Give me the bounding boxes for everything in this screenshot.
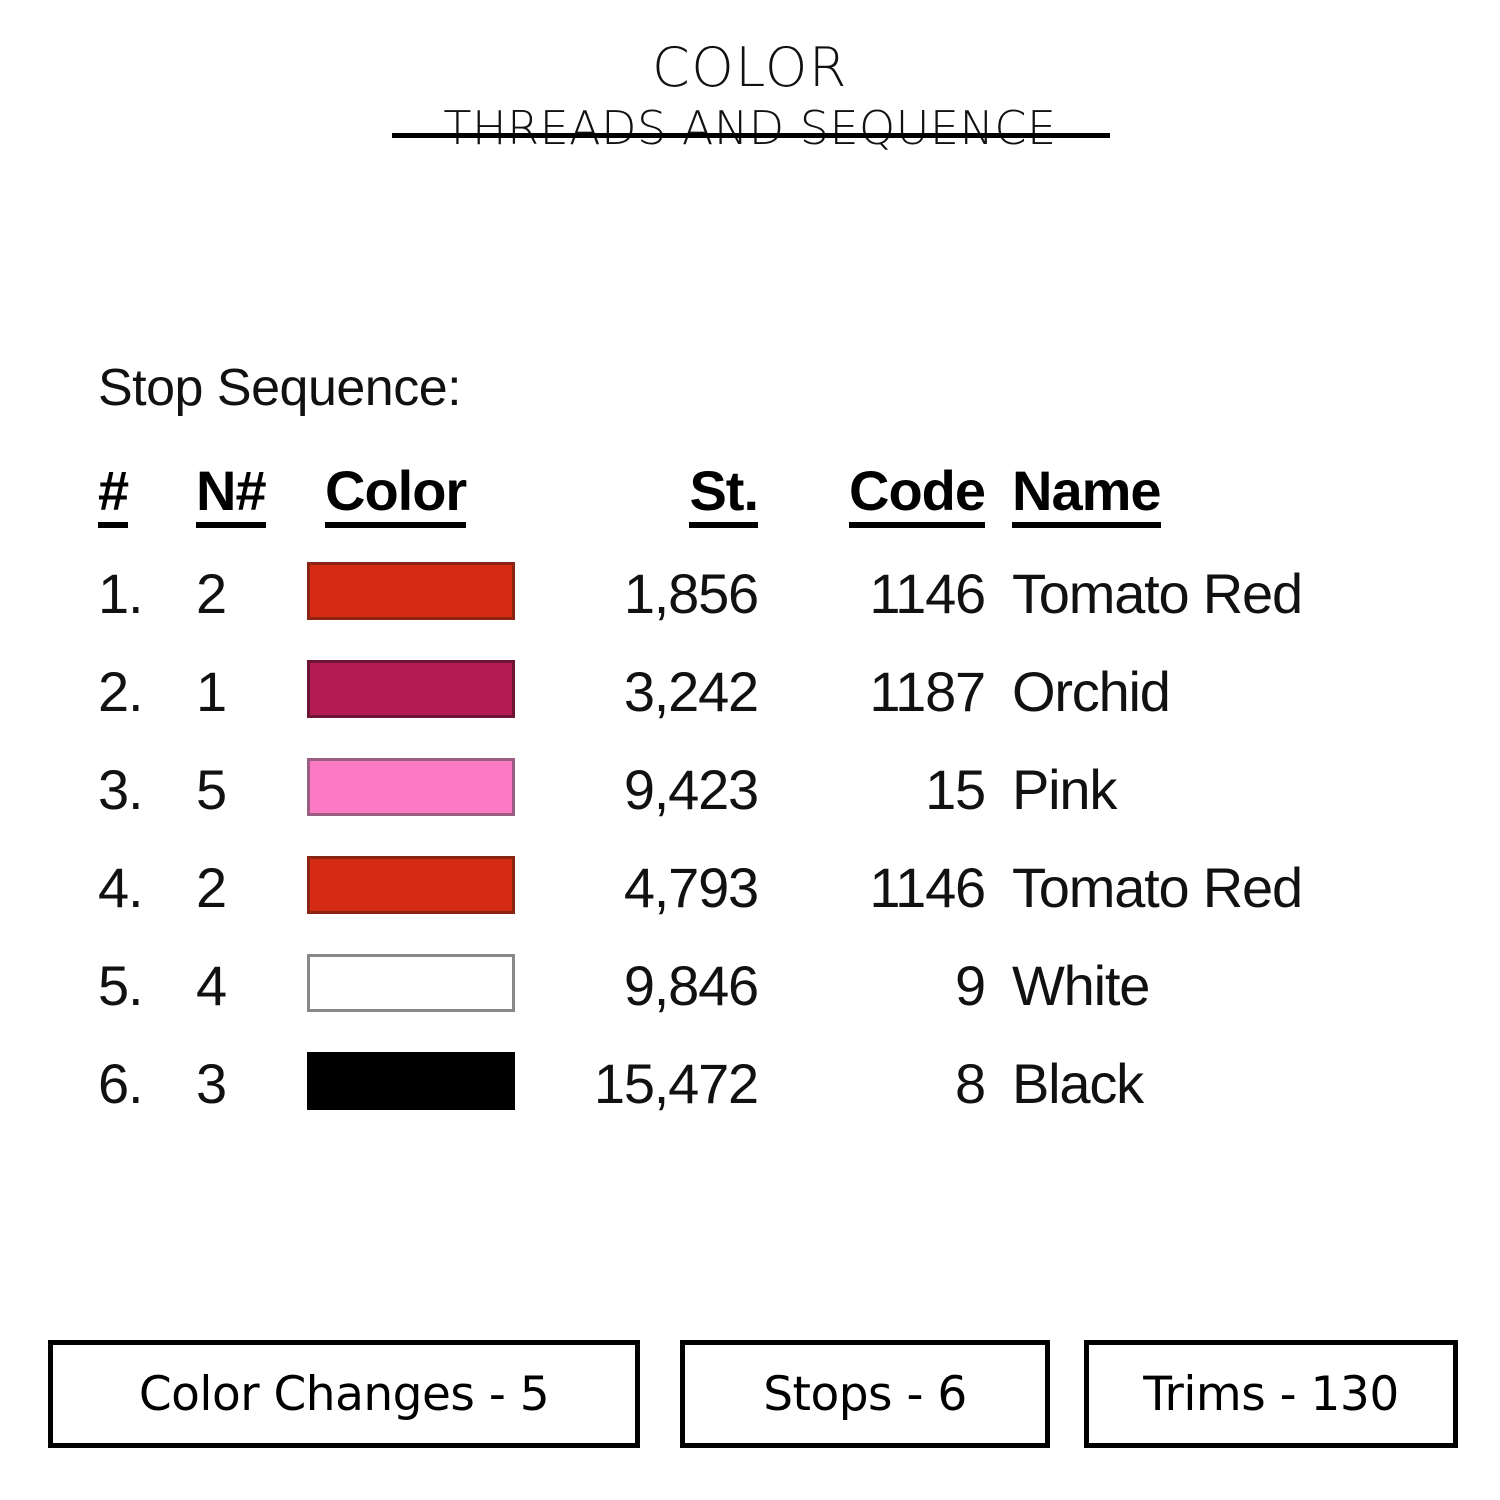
row-thread-code: 1146 xyxy=(775,840,985,936)
row-stitch-count: 15,472 xyxy=(520,1036,758,1132)
column-header-needle: N# xyxy=(196,460,288,528)
row-thread-name: Tomato Red xyxy=(1012,546,1482,642)
row-needle-number: 2 xyxy=(196,840,288,936)
table-row: 6. 3 15,472 8 Black xyxy=(0,1036,1500,1134)
color-swatch xyxy=(307,856,515,914)
column-header-color: Color xyxy=(307,460,521,528)
row-index: 6. xyxy=(98,1036,190,1132)
row-stitch-count: 1,856 xyxy=(520,546,758,642)
thread-sequence-table: # N# Color St. Code Name 1. 2 1,856 1146… xyxy=(0,460,1500,1134)
row-thread-code: 1146 xyxy=(775,546,985,642)
table-row: 5. 4 9,846 9 White xyxy=(0,938,1500,1036)
row-stitch-count: 9,846 xyxy=(520,938,758,1034)
summary-boxes: Color Changes - 5 Stops - 6 Trims - 130 xyxy=(48,1340,1458,1448)
row-index: 2. xyxy=(98,644,190,740)
column-header-code: Code xyxy=(775,460,985,528)
title-divider xyxy=(392,133,1110,138)
table-row: 4. 2 4,793 1146 Tomato Red xyxy=(0,840,1500,938)
summary-stops: Stops - 6 xyxy=(680,1340,1050,1448)
row-thread-code: 9 xyxy=(775,938,985,1034)
row-needle-number: 2 xyxy=(196,546,288,642)
table-header-row: # N# Color St. Code Name xyxy=(0,460,1500,546)
color-swatch xyxy=(307,562,515,620)
color-swatch xyxy=(307,1052,515,1110)
document-header: COLOR THREADS AND SEQUENCE xyxy=(0,38,1500,156)
column-header-name: Name xyxy=(1012,460,1482,528)
color-swatch xyxy=(307,954,515,1012)
table-row: 3. 5 9,423 15 Pink xyxy=(0,742,1500,840)
row-stitch-count: 3,242 xyxy=(520,644,758,740)
column-header-stitches: St. xyxy=(520,460,758,528)
row-thread-code: 8 xyxy=(775,1036,985,1132)
row-index: 5. xyxy=(98,938,190,1034)
row-index: 3. xyxy=(98,742,190,838)
color-swatch xyxy=(307,660,515,718)
stop-sequence-label: Stop Sequence: xyxy=(98,358,461,418)
page-subtitle: THREADS AND SEQUENCE xyxy=(0,100,1500,156)
row-stitch-count: 9,423 xyxy=(520,742,758,838)
row-thread-code: 15 xyxy=(775,742,985,838)
page-title: COLOR xyxy=(0,38,1500,98)
summary-color-changes: Color Changes - 5 xyxy=(48,1340,640,1448)
table-row: 2. 1 3,242 1187 Orchid xyxy=(0,644,1500,742)
row-thread-name: Pink xyxy=(1012,742,1482,838)
row-thread-name: Tomato Red xyxy=(1012,840,1482,936)
row-needle-number: 4 xyxy=(196,938,288,1034)
row-needle-number: 3 xyxy=(196,1036,288,1132)
summary-trims: Trims - 130 xyxy=(1084,1340,1458,1448)
row-thread-name: White xyxy=(1012,938,1482,1034)
row-thread-name: Black xyxy=(1012,1036,1482,1132)
table-row: 1. 2 1,856 1146 Tomato Red xyxy=(0,546,1500,644)
row-index: 1. xyxy=(98,546,190,642)
row-thread-name: Orchid xyxy=(1012,644,1482,740)
row-needle-number: 1 xyxy=(196,644,288,740)
row-thread-code: 1187 xyxy=(775,644,985,740)
row-stitch-count: 4,793 xyxy=(520,840,758,936)
color-swatch xyxy=(307,758,515,816)
column-header-index: # xyxy=(98,460,190,528)
row-index: 4. xyxy=(98,840,190,936)
row-needle-number: 5 xyxy=(196,742,288,838)
